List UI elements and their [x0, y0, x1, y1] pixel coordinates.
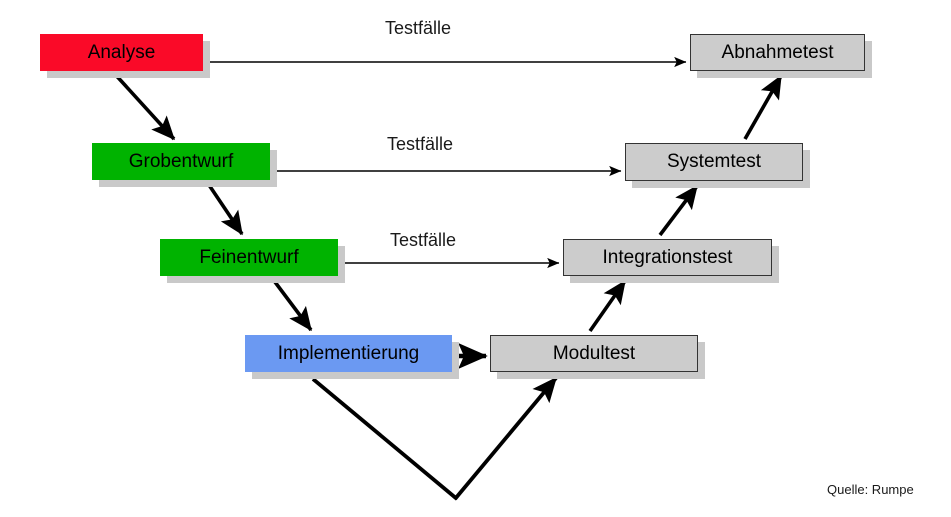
node-integrationstest[interactable]: Integrationstest [563, 239, 772, 276]
node-systemtest[interactable]: Systemtest [625, 143, 803, 181]
node-modultest-label: Modultest [553, 343, 635, 365]
edge-modultest-to-integrationstest [590, 281, 625, 331]
node-grobentwurf-label: Grobentwurf [129, 151, 234, 173]
edge-label-testfaelle-3: Testfälle [390, 230, 456, 251]
node-analyse[interactable]: Analyse [40, 34, 203, 71]
edge-grobentwurf-to-feinentwurf [207, 182, 242, 234]
edge-systemtest-to-abnahmetest [745, 76, 781, 139]
node-systemtest-label: Systemtest [667, 151, 761, 173]
edge-implementierung-to-vertex [313, 379, 457, 499]
v-model-diagram: Analyse Grobentwurf Feinentwurf Implemen… [0, 0, 951, 517]
node-implementierung[interactable]: Implementierung [245, 335, 452, 372]
node-implementierung-label: Implementierung [278, 343, 420, 365]
edge-label-testfaelle-2: Testfälle [387, 134, 453, 155]
edge-feinentwurf-to-implementierung [272, 278, 311, 330]
node-feinentwurf-label: Feinentwurf [199, 247, 298, 269]
edge-integrationstest-to-systemtest [660, 186, 697, 235]
node-integrationstest-label: Integrationstest [603, 247, 733, 269]
node-feinentwurf[interactable]: Feinentwurf [160, 239, 338, 276]
node-abnahmetest[interactable]: Abnahmetest [690, 34, 865, 71]
edge-label-testfaelle-1: Testfälle [385, 18, 451, 39]
edge-analyse-to-grobentwurf [113, 72, 174, 139]
source-note: Quelle: Rumpe [827, 482, 914, 497]
node-grobentwurf[interactable]: Grobentwurf [92, 143, 270, 180]
node-modultest[interactable]: Modultest [490, 335, 698, 372]
node-abnahmetest-label: Abnahmetest [722, 42, 834, 64]
edge-vertex-to-modultest [455, 378, 556, 499]
node-analyse-label: Analyse [88, 42, 156, 64]
